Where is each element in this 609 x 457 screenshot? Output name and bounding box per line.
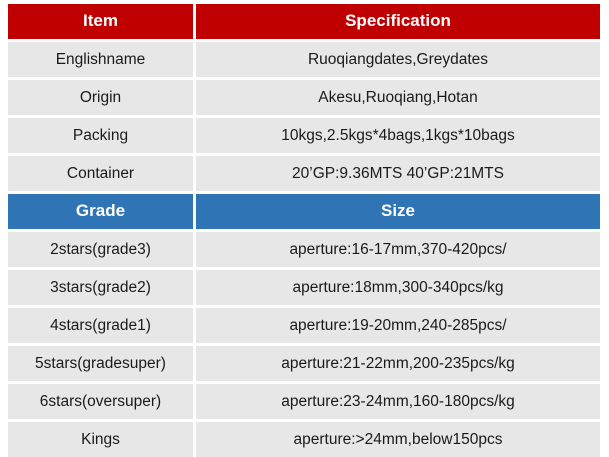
row-label-5stars: 5stars(gradesuper) (8, 346, 196, 384)
table-row: Origin Akesu,Ruoqiang,Hotan (8, 80, 600, 118)
row-value-3stars: aperture:18mm,300-340pcs/kg (196, 270, 600, 308)
row-value-2stars: aperture:16-17mm,370-420pcs/ (196, 232, 600, 270)
row-value-5stars: aperture:21-22mm,200-235pcs/kg (196, 346, 600, 384)
row-value-packing: 10kgs,2.5kgs*4bags,1kgs*10bags (196, 118, 600, 156)
row-label-3stars: 3stars(grade2) (8, 270, 196, 308)
row-label-englishname: Englishname (8, 42, 196, 80)
row-label-4stars: 4stars(grade1) (8, 308, 196, 346)
table-header-row-grade: Grade Size (8, 194, 600, 232)
table-row: 6stars(oversuper) aperture:23-24mm,160-1… (8, 384, 600, 422)
row-value-englishname: Ruoqiangdates,Greydates (196, 42, 600, 80)
table-row: Kings aperture:>24mm,below150pcs (8, 422, 600, 457)
row-label-origin: Origin (8, 80, 196, 118)
table-header-row-specification: Item Specification (8, 4, 600, 42)
row-value-kings: aperture:>24mm,below150pcs (196, 422, 600, 457)
row-label-container: Container (8, 156, 196, 194)
table-row: 5stars(gradesuper) aperture:21-22mm,200-… (8, 346, 600, 384)
row-label-2stars: 2stars(grade3) (8, 232, 196, 270)
column-header-item: Item (8, 4, 196, 42)
table-row: Container 20’GP:9.36MTS 40’GP:21MTS (8, 156, 600, 194)
specification-sheet: Item Specification Englishname Ruoqiangd… (8, 4, 600, 426)
table-row: 2stars(grade3) aperture:16-17mm,370-420p… (8, 232, 600, 270)
row-label-packing: Packing (8, 118, 196, 156)
product-specification-table: Item Specification Englishname Ruoqiangd… (8, 4, 600, 457)
row-label-6stars: 6stars(oversuper) (8, 384, 196, 422)
column-header-size: Size (196, 194, 600, 232)
column-header-specification: Specification (196, 4, 600, 42)
table-row: Englishname Ruoqiangdates,Greydates (8, 42, 600, 80)
table-row: 4stars(grade1) aperture:19-20mm,240-285p… (8, 308, 600, 346)
column-header-grade: Grade (8, 194, 196, 232)
row-label-kings: Kings (8, 422, 196, 457)
row-value-container: 20’GP:9.36MTS 40’GP:21MTS (196, 156, 600, 194)
row-value-6stars: aperture:23-24mm,160-180pcs/kg (196, 384, 600, 422)
row-value-origin: Akesu,Ruoqiang,Hotan (196, 80, 600, 118)
table-body: Item Specification Englishname Ruoqiangd… (8, 4, 600, 457)
table-row: Packing 10kgs,2.5kgs*4bags,1kgs*10bags (8, 118, 600, 156)
table-row: 3stars(grade2) aperture:18mm,300-340pcs/… (8, 270, 600, 308)
row-value-4stars: aperture:19-20mm,240-285pcs/ (196, 308, 600, 346)
